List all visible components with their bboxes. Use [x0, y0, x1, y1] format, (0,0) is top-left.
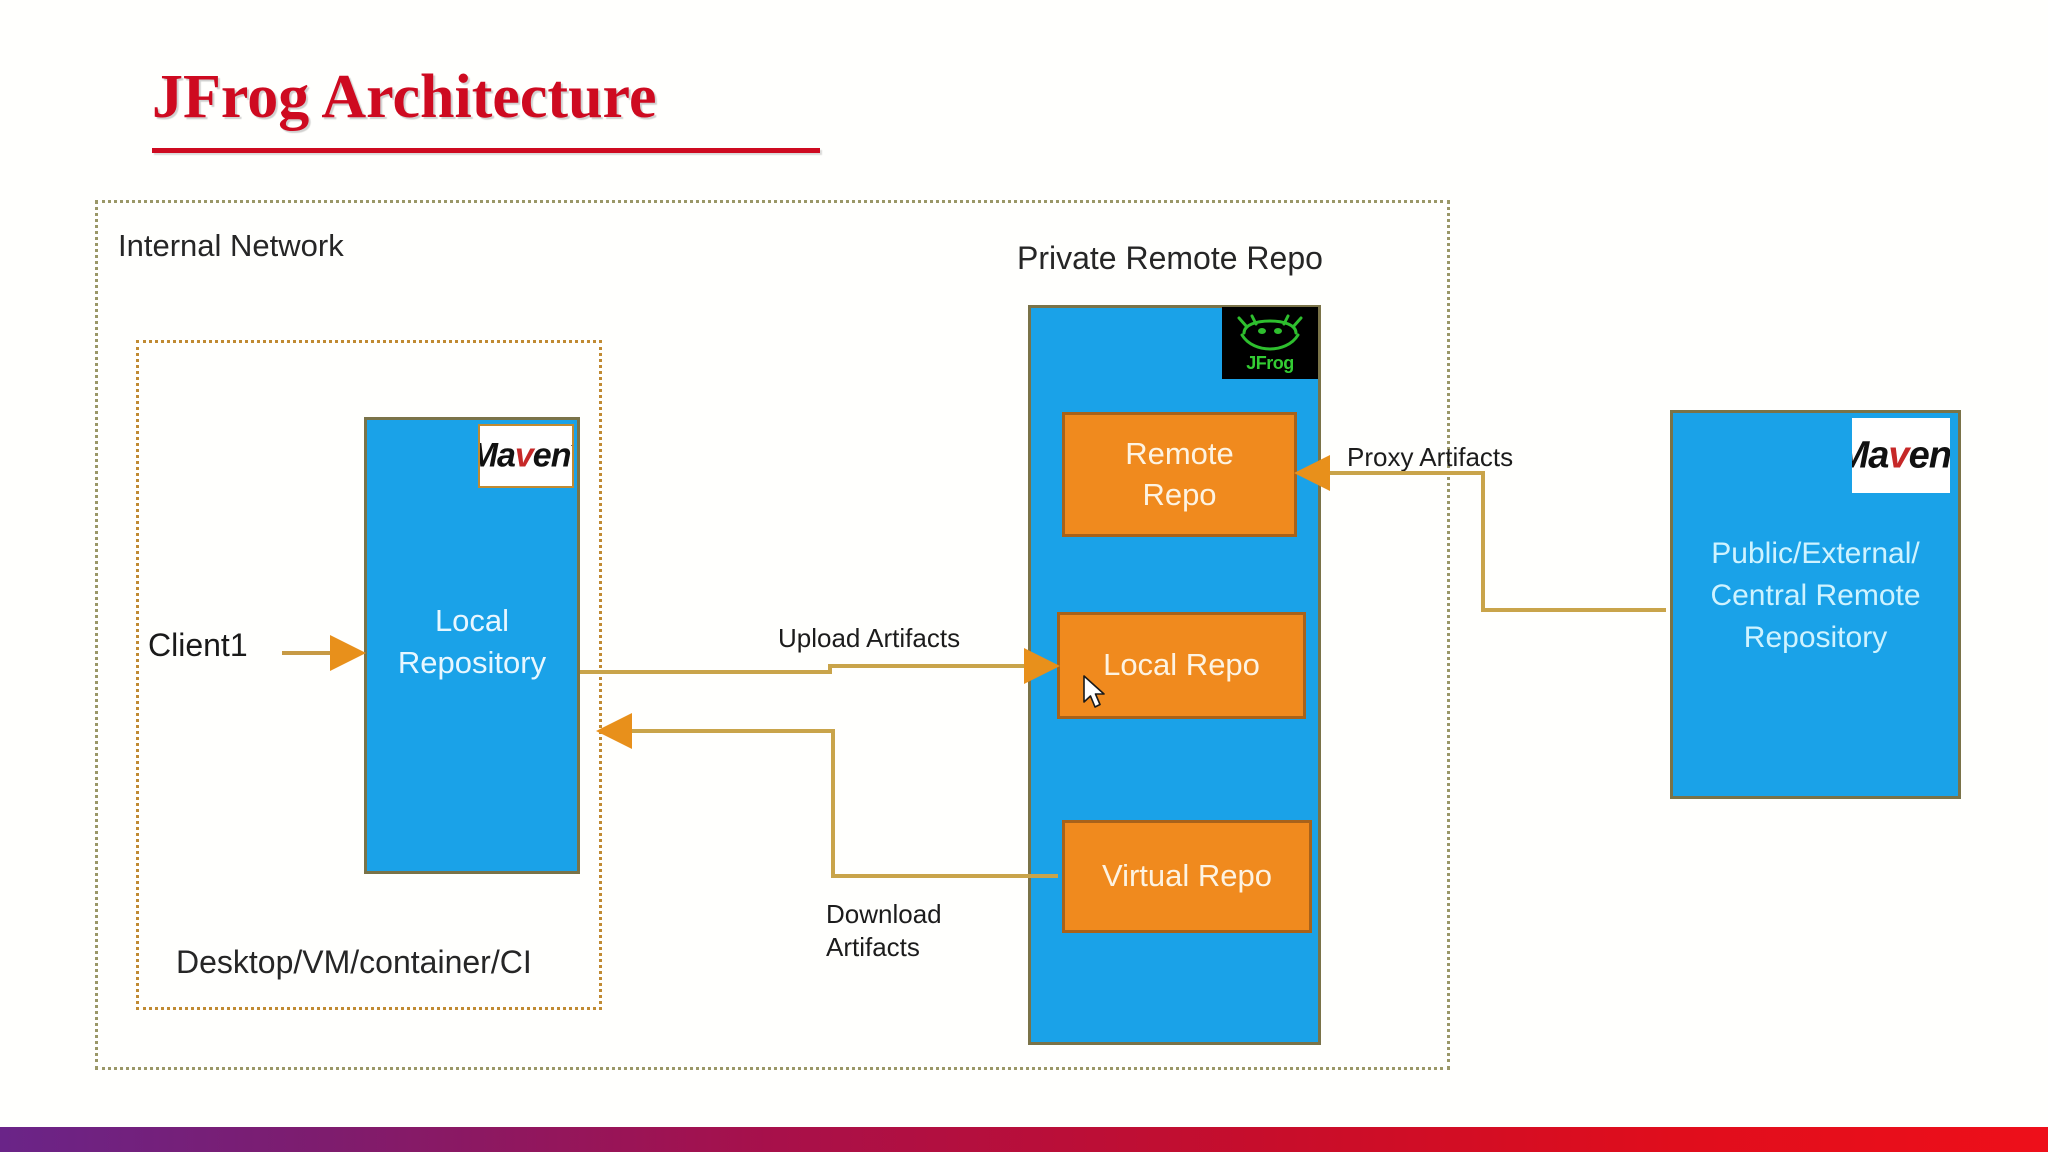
jfrog-logo-icon: JFrog	[1222, 307, 1318, 379]
virtual-repo-label: Virtual Repo	[1102, 856, 1272, 896]
virtual-repo-box[interactable]: Virtual Repo	[1062, 820, 1312, 933]
maven-logo-text-before: Ma	[1852, 434, 1888, 476]
local-repository-label: Local Repository	[364, 600, 580, 684]
private-remote-repo-label: Private Remote Repo	[1017, 240, 1323, 277]
page-title-underline	[152, 148, 820, 153]
remote-repo-box[interactable]: Remote Repo	[1062, 412, 1297, 537]
maven-logo-text-accent: v	[515, 437, 533, 475]
maven-logo-text-after: en	[1909, 434, 1950, 476]
maven-logo-text-before: Ma	[478, 437, 515, 475]
jfrog-logo-text: JFrog	[1222, 353, 1318, 374]
upload-artifacts-label: Upload Artifacts	[778, 622, 960, 655]
desktop-vm-label: Desktop/VM/container/CI	[176, 944, 532, 981]
maven-logo-icon: Maven™	[478, 424, 574, 488]
public-repo-label-line1: Public/External/	[1670, 533, 1961, 575]
slide-canvas: JFrog Architecture Internal Network Desk…	[0, 0, 2048, 1152]
download-artifacts-label: Download Artifacts	[826, 898, 942, 963]
public-repo-label-line2: Central Remote	[1670, 575, 1961, 617]
client1-label: Client1	[148, 627, 248, 664]
footer-gradient-bar	[0, 1127, 2048, 1152]
jfrog-frog-icon	[1234, 313, 1306, 355]
public-repo-label-line3: Repository	[1670, 617, 1961, 659]
remote-repo-label-line2: Repo	[1125, 475, 1234, 515]
download-artifacts-label-line1: Download	[826, 898, 942, 931]
local-repo-label: Local Repo	[1103, 645, 1260, 685]
local-repository-label-line2: Repository	[364, 642, 580, 684]
public-external-repo-label: Public/External/ Central Remote Reposito…	[1670, 533, 1961, 659]
remote-repo-label-line1: Remote	[1125, 434, 1234, 474]
mouse-pointer-icon	[1082, 675, 1108, 711]
download-artifacts-label-line2: Artifacts	[826, 931, 942, 964]
maven-logo-trademark: ™	[570, 442, 574, 457]
proxy-artifacts-label: Proxy Artifacts	[1347, 441, 1513, 474]
local-repository-label-line1: Local	[364, 600, 580, 642]
internal-network-label: Internal Network	[118, 228, 344, 264]
maven-logo-text-accent: v	[1888, 434, 1908, 476]
maven-logo-text-after: en	[533, 437, 571, 475]
maven-logo-icon: Maven™	[1852, 418, 1950, 493]
page-title: JFrog Architecture	[152, 62, 656, 133]
